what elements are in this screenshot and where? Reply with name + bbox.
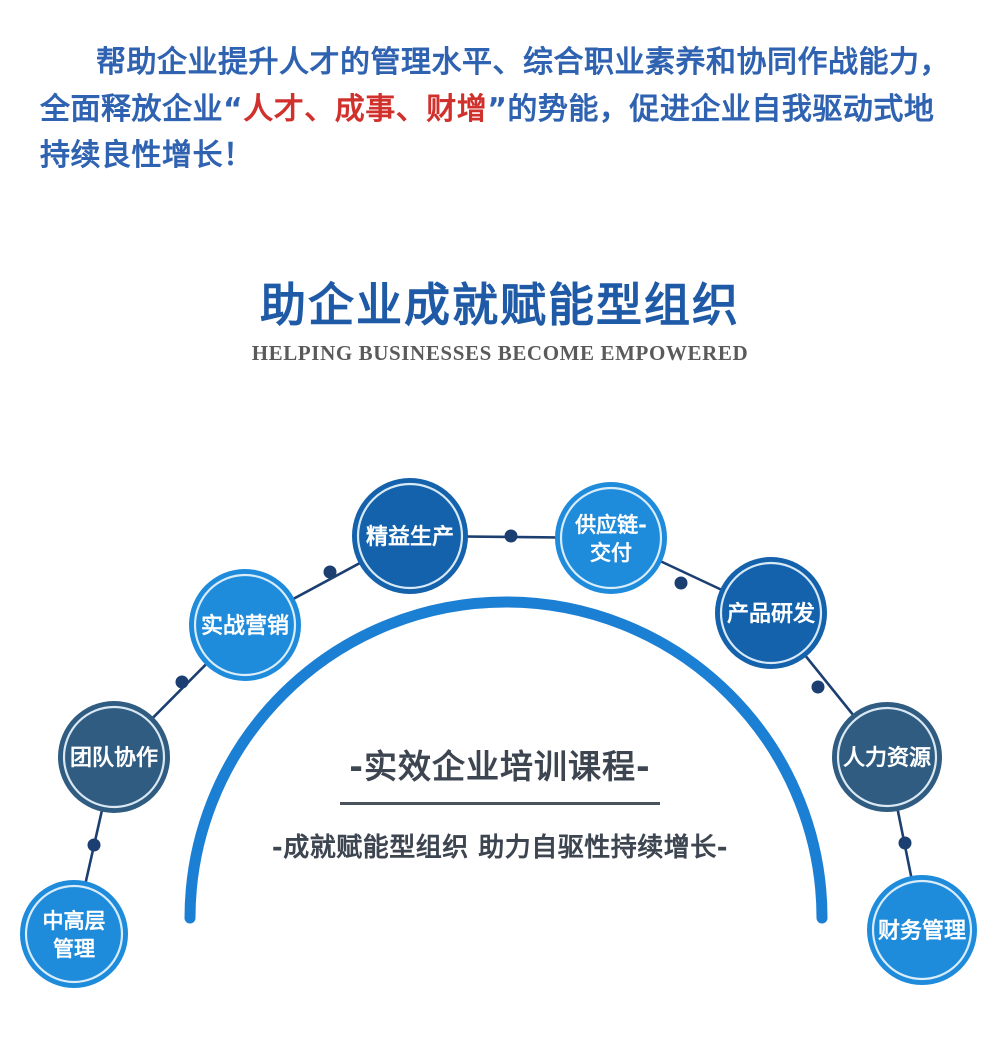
node-label-jingyi-shengchan: 精益生产 [366,524,454,550]
node-zhonggaoceng-guanli[interactable]: 中高层管理 [20,880,128,988]
headline-english: HELPING BUSINESSES BECOME EMPOWERED [0,341,1000,366]
intro-text-highlight: 人才、成事、财增 [243,92,487,127]
headline-chinese: 助企业成就赋能型组织 [0,278,1000,333]
node-tuandui-xiezuo[interactable]: 团队协作 [58,701,170,813]
intro-paragraph: 帮助企业提升人才的管理水平、综合职业素养和协同作战能力，全面释放企业“人才、成事… [0,40,1000,180]
center-divider [340,802,660,805]
node-label-chanpin-yanfa: 产品研发 [727,601,816,627]
node-jingyi-shengchan[interactable]: 精益生产 [352,478,468,594]
connector-dot-6 [812,681,825,694]
node-label-shizhan-yingxiao: 实战营销 [201,613,289,639]
center-text-block: -实效企业培训课程- -成就赋能型组织 助力自驱性持续增长- [250,740,750,864]
node-circle-zhonggaoceng-guanli [20,880,128,988]
connector-dot-3 [324,566,337,579]
center-subtitle: -成就赋能型组织 助力自驱性持续增长- [250,827,750,864]
node-label-zhonggaoceng-guanli: 管理 [53,937,95,961]
intro-text: 帮助企业提升人才的管理水平、综合职业素养和协同作战能力，全面释放企业“人才、成事… [40,40,960,180]
connector-dot-7 [899,837,912,850]
node-caiwu-guanli[interactable]: 财务管理 [867,875,977,985]
node-label-renli-ziyuan: 人力资源 [843,746,931,771]
node-label-caiwu-guanli: 财务管理 [878,918,966,944]
node-label-tuandui-xiezuo: 团队协作 [70,746,158,771]
center-title: -实效企业培训课程- [250,740,750,788]
connector-dot-1 [88,839,101,852]
node-renli-ziyuan[interactable]: 人力资源 [832,702,942,812]
node-label-gongyinglian-jiaofu: 供应链- [574,513,647,537]
node-circles-group: 中高层管理团队协作实战营销精益生产供应链-交付产品研发人力资源财务管理 [20,478,977,988]
node-circle-gongyinglian-jiaofu [555,482,667,594]
headline-block: 助企业成就赋能型组织 HELPING BUSINESSES BECOME EMP… [0,278,1000,366]
connector-dot-4 [505,530,518,543]
connector-dot-5 [675,577,688,590]
node-gongyinglian-jiaofu[interactable]: 供应链-交付 [555,482,667,594]
node-label-zhonggaoceng-guanli: 中高层 [43,909,106,933]
node-chanpin-yanfa[interactable]: 产品研发 [715,557,827,669]
node-label-gongyinglian-jiaofu: 交付 [590,541,632,565]
arc-diagram: 中高层管理团队协作实战营销精益生产供应链-交付产品研发人力资源财务管理 -实效企… [0,440,1000,1061]
node-shizhan-yingxiao[interactable]: 实战营销 [189,569,301,681]
connector-dot-2 [176,676,189,689]
